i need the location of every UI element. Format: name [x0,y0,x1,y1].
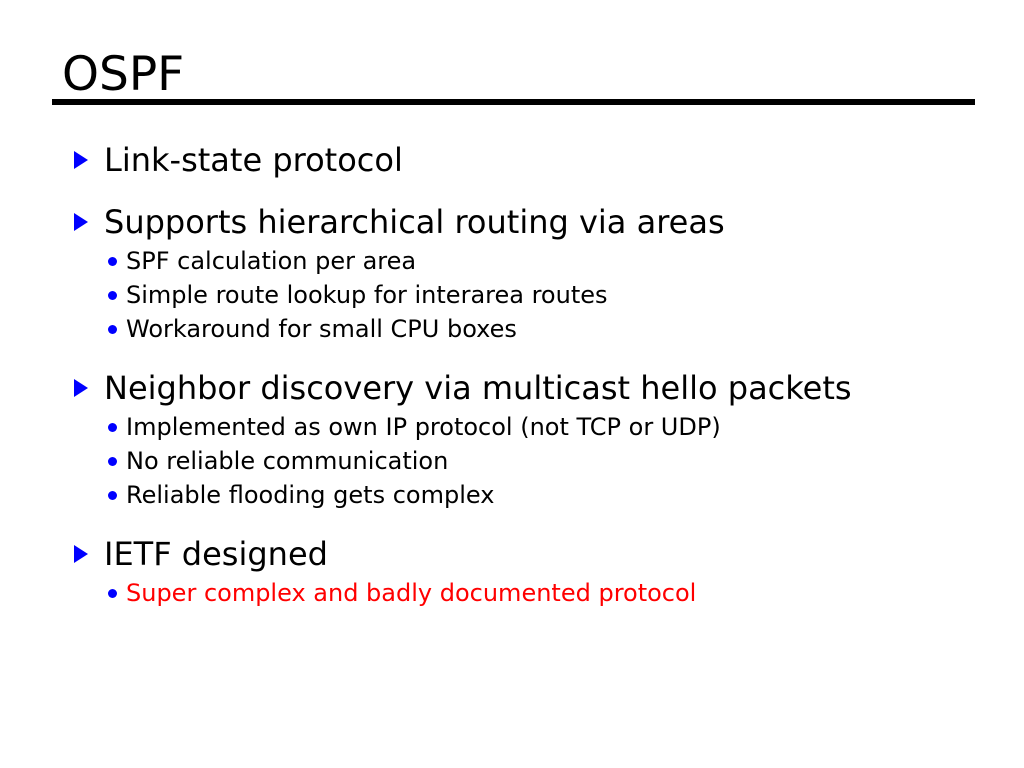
bullet-item-level2[interactable]: Workaround for small CPU boxes [0,312,1024,346]
sub-bullet-label: SPF calculation per area [126,244,416,278]
group-spacer [0,180,1024,202]
sub-bullet-label: Reliable flooding gets complex [126,478,494,512]
dot-icon [108,444,126,478]
dot-icon [108,312,126,346]
bullet-label: IETF designed [104,534,328,574]
bullet-group: Supports hierarchical routing via areas … [0,202,1024,346]
bullet-label: Supports hierarchical routing via areas [104,202,725,242]
bullet-item-level2[interactable]: Simple route lookup for interarea routes [0,278,1024,312]
sub-bullet-label: Workaround for small CPU boxes [126,312,517,346]
dot-icon [108,410,126,444]
triangle-right-icon [74,140,104,180]
slide-body: Link-state protocol Supports hierarchica… [0,140,1024,610]
sub-bullet-label: No reliable communication [126,444,448,478]
slide-title-block: OSPF [62,48,978,102]
bullet-group: Link-state protocol [0,140,1024,180]
bullet-item-level1[interactable]: IETF designed [0,534,1024,574]
dot-icon [108,576,126,610]
bullet-item-level2[interactable]: Implemented as own IP protocol (not TCP … [0,410,1024,444]
triangle-right-icon [74,368,104,408]
sub-bullet-label: Simple route lookup for interarea routes [126,278,608,312]
sub-bullet-label-highlight: Super complex and badly documented proto… [126,576,696,610]
bullet-label: Neighbor discovery via multicast hello p… [104,368,852,408]
bullet-group: Neighbor discovery via multicast hello p… [0,368,1024,512]
bullet-label: Link-state protocol [104,140,403,180]
triangle-right-icon [74,534,104,574]
bullet-item-level1[interactable]: Supports hierarchical routing via areas [0,202,1024,242]
sub-bullet-list: Implemented as own IP protocol (not TCP … [0,410,1024,512]
triangle-right-icon [74,202,104,242]
bullet-item-level2[interactable]: Reliable flooding gets complex [0,478,1024,512]
sub-bullet-list: SPF calculation per area Simple route lo… [0,244,1024,346]
sub-bullet-list: Super complex and badly documented proto… [0,576,1024,610]
group-spacer [0,512,1024,534]
bullet-item-level2[interactable]: SPF calculation per area [0,244,1024,278]
sub-bullet-label: Implemented as own IP protocol (not TCP … [126,410,721,444]
dot-icon [108,244,126,278]
bullet-item-level2[interactable]: Super complex and badly documented proto… [0,576,1024,610]
bullet-item-level1[interactable]: Neighbor discovery via multicast hello p… [0,368,1024,408]
bullet-item-level2[interactable]: No reliable communication [0,444,1024,478]
title-underline-rule [52,99,975,105]
dot-icon [108,478,126,512]
dot-icon [108,278,126,312]
group-spacer [0,346,1024,368]
bullet-item-level1[interactable]: Link-state protocol [0,140,1024,180]
page-title: OSPF [62,48,978,102]
bullet-group: IETF designed Super complex and badly do… [0,534,1024,610]
slide-canvas: OSPF Link-state protocol Supports hierar… [0,0,1024,768]
